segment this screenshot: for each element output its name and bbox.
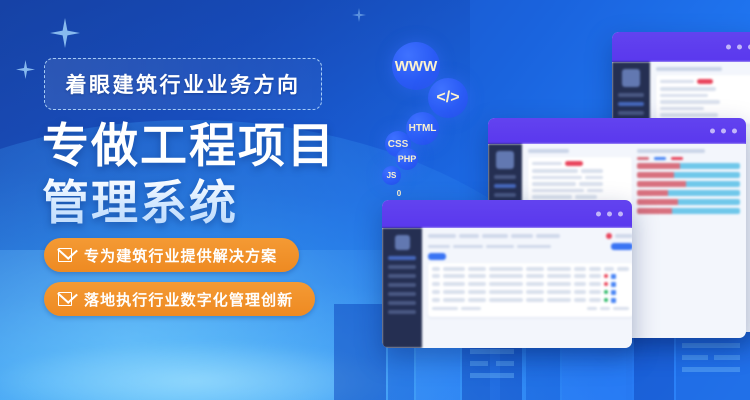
- checkbox-checked-icon: [58, 247, 75, 264]
- action-icon[interactable]: [611, 290, 616, 295]
- chart-bar: [637, 190, 741, 196]
- sidebar-item: [494, 184, 516, 188]
- sidebar-item: [494, 193, 516, 197]
- tech-bubble-label: WWW: [395, 58, 437, 75]
- sidebar-item: [618, 93, 644, 97]
- data-table-card: [428, 263, 632, 317]
- feature-badge[interactable]: 落地执行行业数字化管理创新: [44, 282, 315, 316]
- sidebar: [382, 228, 422, 348]
- table-row[interactable]: [432, 298, 629, 303]
- tech-bubble-label: PHP: [398, 154, 417, 164]
- dashboard-window-front[interactable]: [382, 200, 632, 348]
- tech-bubble-: </>: [428, 78, 468, 118]
- headline-line-1: 专做工程项目: [42, 117, 372, 174]
- chart-legend: [637, 157, 741, 160]
- tech-bubble-www: WWW: [392, 42, 440, 90]
- eyebrow-badge: 着眼建筑行业业务方向: [44, 58, 322, 110]
- sidebar-item: [388, 283, 416, 287]
- chart-bar: [637, 208, 741, 214]
- tech-bubble-label: </>: [436, 89, 459, 107]
- app-logo-icon: [496, 151, 514, 169]
- window-dots-icon: [596, 212, 623, 217]
- toolbar: [428, 233, 632, 239]
- tech-bubble-0: 0: [392, 186, 406, 200]
- action-icon[interactable]: [611, 298, 616, 303]
- table-pagination[interactable]: [432, 307, 629, 311]
- table-row[interactable]: [432, 274, 629, 279]
- status-dot: [604, 282, 608, 286]
- app-logo-icon: [622, 69, 640, 87]
- sidebar-item: [618, 111, 644, 115]
- sidebar-item: [388, 274, 416, 278]
- table-row[interactable]: [432, 282, 629, 287]
- headline-line-2: 管理系统: [42, 174, 372, 231]
- tech-bubble-php: PHP: [396, 148, 418, 170]
- tech-bubble-html: HTML: [406, 112, 439, 145]
- status-dot: [604, 298, 608, 302]
- window-content: [382, 228, 632, 348]
- chart-bar: [637, 199, 741, 205]
- window-title-bar: [488, 118, 746, 144]
- content-card: [656, 75, 750, 124]
- sidebar-item: [388, 310, 416, 314]
- feature-badge[interactable]: 专为建筑行业提供解决方案: [44, 238, 299, 272]
- chart-bar: [637, 172, 741, 178]
- table-row[interactable]: [432, 290, 629, 295]
- action-icon[interactable]: [611, 274, 616, 279]
- data-table-card: [528, 157, 632, 206]
- page-title: 专做工程项目 管理系统: [42, 117, 372, 231]
- tech-bubble-label: HTML: [409, 123, 437, 134]
- chart-bar: [637, 163, 741, 169]
- status-dot: [604, 274, 608, 278]
- feature-badge-label: 专为建筑行业提供解决方案: [84, 245, 277, 266]
- window-dots-icon: [710, 129, 737, 134]
- sidebar-item: [618, 102, 644, 106]
- app-logo-icon: [395, 235, 410, 250]
- chart-bar: [637, 181, 741, 187]
- filter-bar: [428, 243, 632, 250]
- main-content: [422, 228, 632, 348]
- sidebar-item: [388, 301, 416, 305]
- sidebar-item: [388, 265, 416, 269]
- action-icon[interactable]: [611, 282, 616, 287]
- status-dot: [604, 290, 608, 294]
- window-title-bar: [612, 32, 750, 62]
- tech-bubble-label: JS: [387, 171, 397, 180]
- sidebar-item: [388, 292, 416, 296]
- sidebar-item: [494, 175, 516, 179]
- tech-bubble-js: JS: [382, 166, 401, 185]
- window-title-bar: [382, 200, 632, 228]
- window-dots-icon: [726, 45, 750, 50]
- banner-copy: 着眼建筑行业业务方向 专做工程项目 管理系统 专为建筑行业提供解决方案落地执行行…: [0, 0, 380, 400]
- table-header: [432, 267, 629, 271]
- checkbox-checked-icon: [58, 291, 75, 308]
- feature-badge-list: 专为建筑行业提供解决方案落地执行行业数字化管理创新: [44, 238, 315, 326]
- promotional-banner: WWW</>HTMLCSSPHPJS0: [0, 0, 750, 400]
- tech-bubble-label: 0: [397, 189, 401, 198]
- feature-badge-label: 落地执行行业数字化管理创新: [84, 289, 293, 310]
- eyebrow-text: 着眼建筑行业业务方向: [66, 69, 301, 99]
- sidebar-item: [388, 256, 416, 260]
- primary-button[interactable]: [428, 253, 446, 260]
